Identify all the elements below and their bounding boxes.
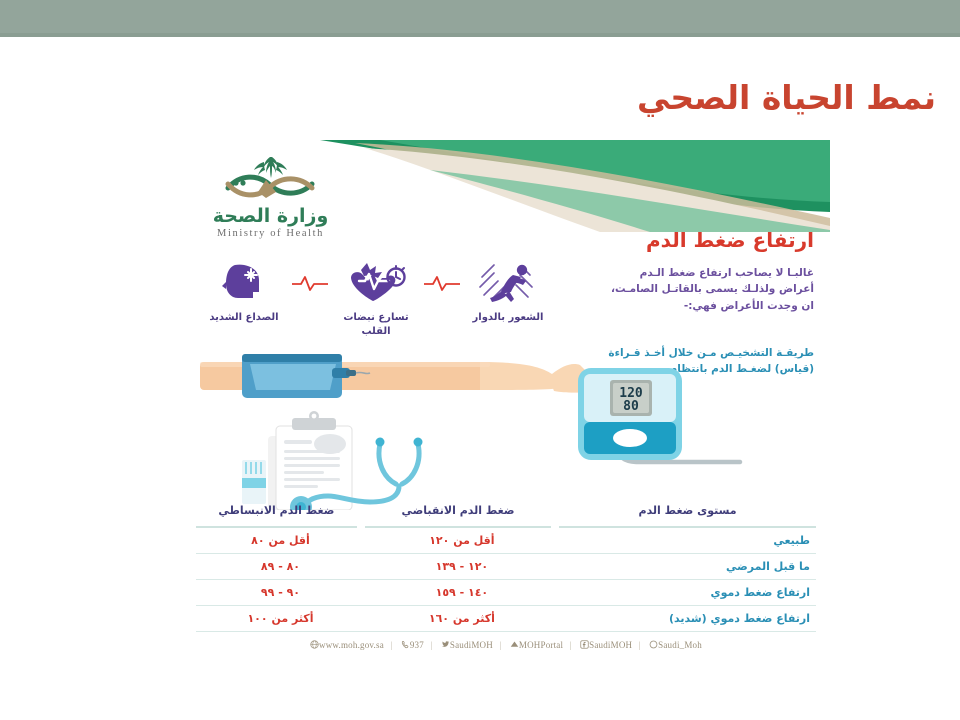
slide-top-accent-line	[0, 33, 960, 37]
cell-level: طبيعي	[559, 528, 816, 553]
cell-diastolic: ٩٠ - ٩٩	[196, 580, 365, 605]
slide-canvas: نمط الحياة الصحي	[0, 0, 960, 720]
phone-icon	[401, 640, 410, 649]
chat-bubble-icon	[649, 640, 658, 649]
twitter-icon	[441, 640, 450, 649]
table-row: طبيعي أقل من ١٢٠ أقل من ٨٠	[196, 528, 816, 554]
bp-measurement-illustration: 120 80	[180, 340, 830, 510]
portal-icon	[510, 640, 519, 649]
cell-systolic: أكثر من ١٦٠	[365, 606, 559, 631]
moh-logo-arabic: وزارة الصحة	[188, 207, 353, 226]
ecg-divider-icon-2	[290, 260, 330, 306]
symptom-item-heart-rate: تسارع نبضات القلب	[330, 260, 422, 338]
footer-phone[interactable]: 937	[399, 640, 424, 650]
blood-pressure-table: مستوى ضغط الدم ضغط الدم الانقباضي ضغط ال…	[196, 500, 816, 632]
moh-logo: وزارة الصحة Ministry of Health	[188, 154, 353, 239]
stethoscope-ear-right	[414, 438, 423, 447]
table-row: ارتفاع ضغط دموي ١٤٠ - ١٥٩ ٩٠ - ٩٩	[196, 580, 816, 606]
column-header-level: مستوى ضغط الدم	[559, 500, 816, 528]
slide-top-band	[0, 0, 960, 33]
table-row: ما قبل المرضي ١٢٠ - ١٣٩ ٨٠ - ٨٩	[196, 554, 816, 580]
moh-logo-english: Ministry of Health	[188, 228, 353, 239]
page-title: نمط الحياة الصحي	[336, 78, 936, 118]
symptom-label: الشعور بالدوار	[462, 311, 554, 325]
symptoms-row: الصداع الشديد ت	[198, 260, 558, 345]
footer-facebook[interactable]: SaudiMOH	[578, 640, 632, 650]
table-row: ارتفاع ضغط دموي (شديد) أكثر من ١٦٠ أكثر …	[196, 606, 816, 632]
cell-diastolic: أقل من ٨٠	[196, 528, 365, 553]
cell-diastolic: ٨٠ - ٨٩	[196, 554, 365, 579]
cell-systolic: أقل من ١٢٠	[365, 528, 559, 553]
footer-separator: |	[639, 640, 641, 650]
bp-monitor-device: 120 80	[578, 368, 682, 460]
svg-text:80: 80	[623, 399, 639, 414]
footer-website[interactable]: www.moh.gov.sa	[308, 640, 384, 650]
cell-systolic: ١٢٠ - ١٣٩	[365, 554, 559, 579]
symptom-item-dizziness: الشعور بالدوار	[462, 260, 554, 325]
cell-level: ما قبل المرضي	[559, 554, 816, 579]
footer-other-channel[interactable]: Saudi_Moh	[647, 640, 702, 650]
stethoscope-ear-left	[376, 438, 385, 447]
footer-separator: |	[499, 640, 501, 650]
globe-icon	[310, 640, 319, 649]
ecg-divider-icon-1	[422, 260, 462, 306]
heart-rate-icon	[330, 260, 422, 306]
dizzy-person-icon	[462, 260, 554, 306]
symptom-label: الصداع الشديد	[198, 311, 290, 325]
headache-head-icon	[198, 260, 290, 306]
column-header-systolic: ضغط الدم الانقباضي	[365, 500, 551, 528]
symptom-label: تسارع نبضات القلب	[330, 311, 422, 338]
contact-footer: www.moh.gov.sa | 937 | SaudiMOH | MOHPor…	[180, 640, 830, 650]
symptoms-intro-paragraph: غالبـا لا يصاحب ارتفاع ضغط الـدم أعراض و…	[602, 265, 814, 314]
footer-separator: |	[390, 640, 392, 650]
cell-diastolic: أكثر من ١٠٠	[196, 606, 365, 631]
cell-level: ارتفاع ضغط دموي	[559, 580, 816, 605]
column-header-diastolic: ضغط الدم الانبساطي	[196, 500, 357, 528]
footer-twitter[interactable]: SaudiMOH	[439, 640, 493, 650]
cell-level: ارتفاع ضغط دموي (شديد)	[559, 606, 816, 631]
footer-separator: |	[570, 640, 572, 650]
symptom-item-headache: الصداع الشديد	[198, 260, 290, 325]
footer-separator: |	[430, 640, 432, 650]
bp-cuff	[242, 354, 370, 398]
cell-systolic: ١٤٠ - ١٥٩	[365, 580, 559, 605]
infographic-card: وزارة الصحة Ministry of Health ارتفاع ضغ…	[180, 140, 830, 670]
moh-emblem-icon	[188, 154, 353, 206]
infographic-heading: ارتفاع ضغط الدم	[394, 228, 814, 252]
table-header-row: مستوى ضغط الدم ضغط الدم الانقباضي ضغط ال…	[196, 500, 816, 528]
facebook-icon	[580, 640, 589, 649]
footer-portal[interactable]: MOHPortal	[508, 640, 563, 650]
